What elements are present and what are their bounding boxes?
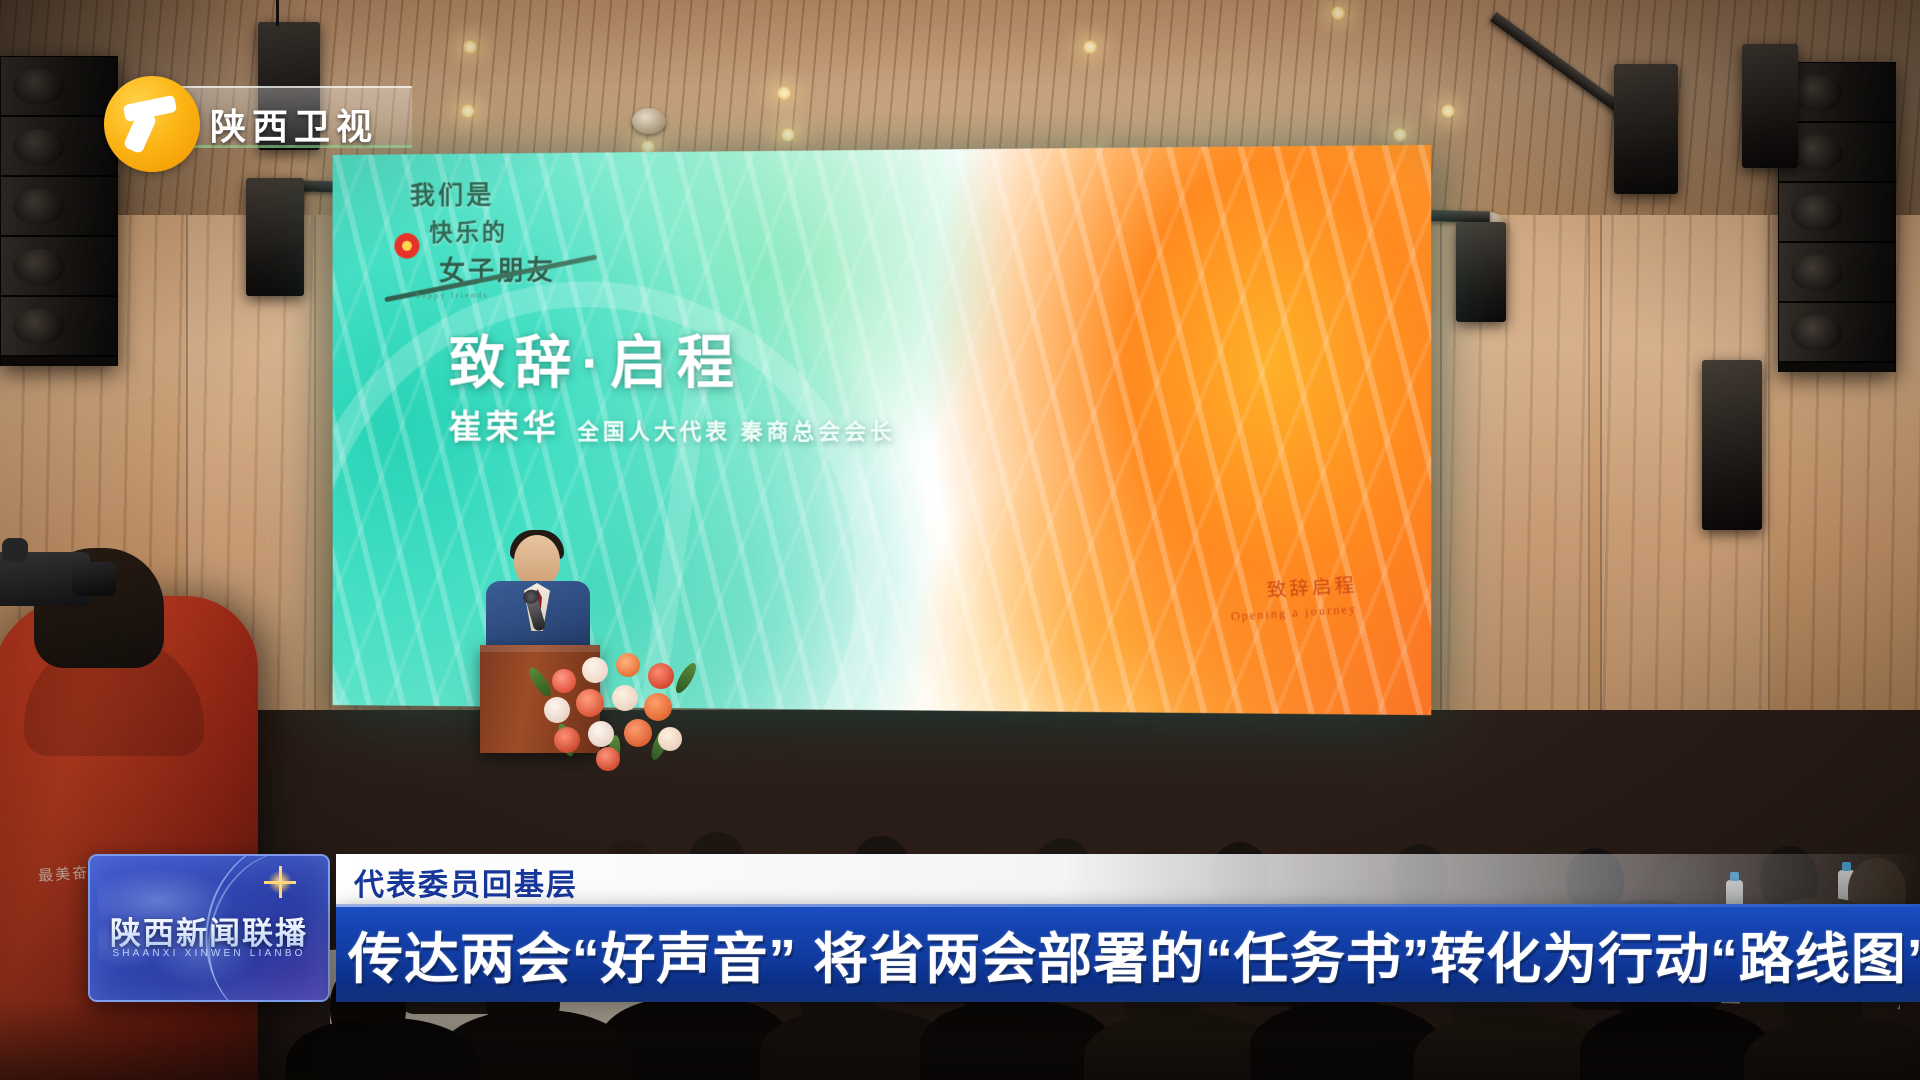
speaker-titles: 全国人大代表 秦商总会会长	[577, 414, 896, 446]
event-logo-line-2: 快乐的	[429, 212, 612, 248]
broadcast-screenshot: 我们是 快乐的 女子朋友 happy friends 致辞·启程 崔荣华 全国人…	[0, 0, 1920, 1080]
speaker-box-left-lower	[246, 178, 304, 296]
ceiling-speaker-dome	[632, 108, 666, 134]
lower-third: 陕西新闻联播 SHAANXI XINWEN LIANBO 代表委员回基层 传达两…	[0, 850, 1920, 1006]
signature-chinese: 致辞启程	[1229, 570, 1357, 605]
seven-glyph	[122, 94, 180, 152]
ceiling-downlight	[1392, 128, 1408, 142]
ceiling-downlight	[1440, 104, 1456, 118]
ceiling-downlight	[460, 104, 476, 118]
event-logo-pinyin: happy friends	[416, 290, 489, 300]
ceiling-downlight	[1330, 6, 1346, 20]
ceiling-downlight	[1082, 40, 1098, 54]
program-pinyin: SHAANXI XINWEN LIANBO	[112, 948, 305, 959]
ceiling-downlight	[462, 40, 478, 54]
speaker-head	[514, 535, 560, 587]
kicker-bar: 代表委员回基层	[336, 854, 1920, 904]
program-badge: 陕西新闻联播 SHAANXI XINWEN LIANBO	[88, 854, 330, 1002]
sparkle-icon	[268, 870, 292, 894]
speaker-box-far-right	[1742, 44, 1798, 168]
bottom-shadow-gradient	[0, 1000, 1920, 1080]
speaker-credit: 崔荣华 全国人大代表 秦商总会会长	[449, 400, 896, 449]
ceiling-downlight	[780, 128, 796, 142]
event-logo-line-1: 我们是	[410, 174, 613, 212]
line-array-speaker-left	[0, 56, 118, 366]
headline-bar: 传达两会“好声音” 将省两会部署的“任务书”转化为行动“路线图”	[336, 904, 1920, 1002]
red-plum-blossom-icon	[394, 233, 419, 259]
video-camera-icon	[0, 538, 116, 624]
channel-logo-bug: 陕西卫视	[104, 76, 412, 156]
ceiling-downlight	[776, 86, 792, 100]
speaker-box-right-upper	[1614, 64, 1678, 194]
signature-block: 致辞启程 Opening a journey	[1230, 574, 1357, 621]
speaker-name: 崔荣华	[449, 400, 560, 448]
headline-text: 传达两会“好声音” 将省两会部署的“任务书”转化为行动“路线图”	[348, 914, 1920, 994]
program-name: 陕西新闻联播	[110, 908, 308, 953]
speaker-mount	[276, 0, 279, 26]
speaker-box-right-lower	[1456, 222, 1506, 322]
kicker-text: 代表委员回基层	[354, 860, 578, 904]
shaanxi-tv-seven-ball-icon	[104, 76, 200, 172]
speaker-box-right-tall	[1702, 360, 1762, 530]
event-logo: 我们是 快乐的 女子朋友 happy friends	[389, 174, 613, 288]
session-title: 致辞·启程	[449, 315, 744, 399]
channel-name: 陕西卫视	[210, 98, 378, 150]
